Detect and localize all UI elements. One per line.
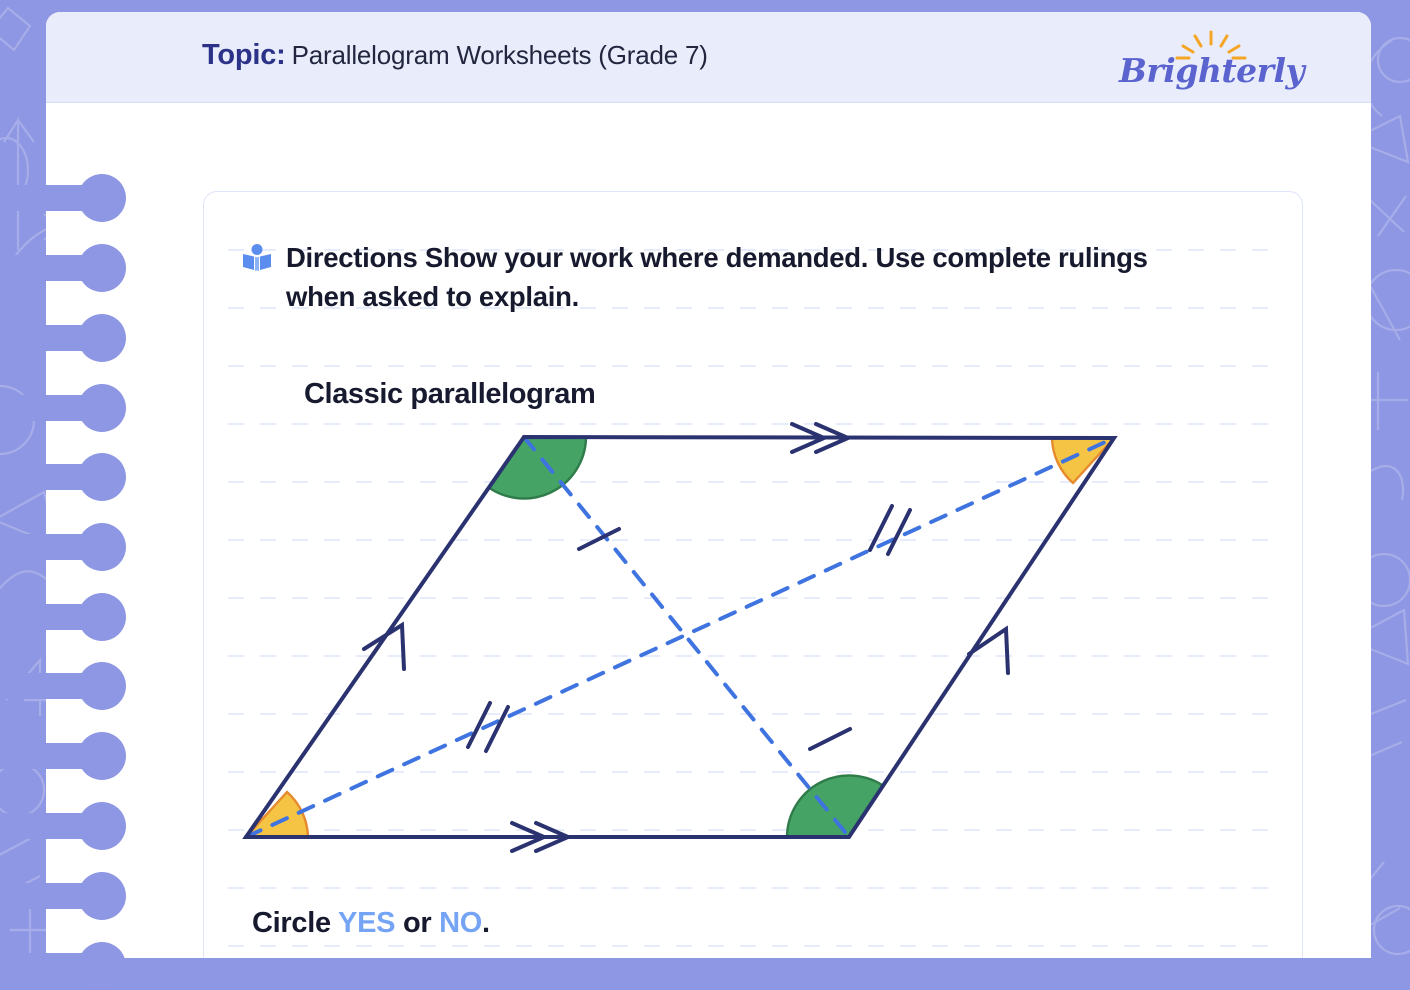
directions-row: Directions Show your work where demanded… [242, 238, 1242, 316]
topic-title: Parallelogram Worksheets (Grade 7) [292, 40, 708, 70]
parallelogram-figure [224, 417, 1284, 877]
figure-heading: Classic parallelogram [304, 378, 595, 411]
open-book-icon [242, 244, 272, 277]
topic-label: Topic: [202, 39, 286, 71]
directions-text: Directions Show your work where demanded… [286, 238, 1216, 316]
topic-line: Topic:Parallelogram Worksheets (Grade 7) [202, 39, 708, 72]
tick-marks [468, 506, 910, 751]
brand-wordmark: Brighterly [1119, 51, 1304, 90]
circle-middle: or [395, 907, 439, 939]
worksheet-card: Directions Show your work where demanded… [203, 191, 1303, 958]
tick-double-left-b [486, 707, 508, 751]
circle-prefix: Circle [252, 907, 338, 939]
side-arrow-markers [364, 424, 1008, 851]
answer-option-yes[interactable]: YES [338, 907, 395, 939]
circle-yes-no-line: Circle YES or NO. [252, 907, 490, 940]
tick-single-lower [810, 729, 850, 749]
diagonal-top-left-bottom-right [524, 437, 849, 837]
circle-suffix: . [482, 907, 490, 939]
worksheet-page: Topic:Parallelogram Worksheets (Grade 7)… [46, 12, 1371, 958]
brightterly-logo: Brighterly [1119, 30, 1309, 92]
answer-option-no[interactable]: NO [439, 907, 482, 939]
page-header: Topic:Parallelogram Worksheets (Grade 7)… [46, 12, 1371, 103]
